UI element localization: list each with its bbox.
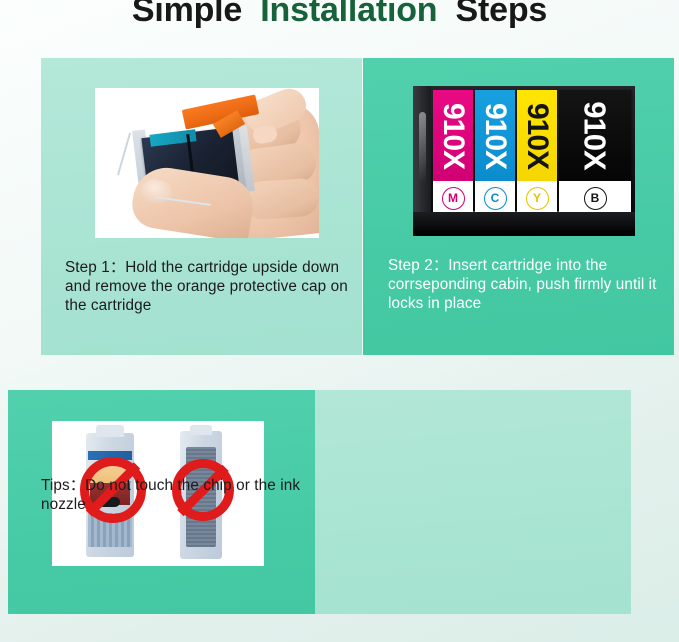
cartridge-magenta: 910X M xyxy=(433,90,473,215)
photo-wisp xyxy=(117,133,131,176)
cartridge-yellow: 910X Y xyxy=(517,90,557,215)
title-space-2 xyxy=(442,0,451,29)
cartridge-row: 910X M 910X C 910X Y xyxy=(433,90,631,215)
cartridge-cyan-letter: C xyxy=(484,187,507,210)
cartridge-black-model: 910X xyxy=(580,101,611,169)
page-title: Simple Installation Steps xyxy=(0,0,679,30)
printer-bay-highlight xyxy=(419,112,426,182)
cartridge-magenta-label: M xyxy=(433,181,473,215)
cartridge-top-nub xyxy=(190,425,212,435)
title-word-steps: Steps xyxy=(456,0,548,29)
cartridge-yellow-letter: Y xyxy=(526,187,549,210)
step-1-panel: Step 1：Hold the cartridge upside down an… xyxy=(41,58,362,355)
cartridge-cyan-model: 910X xyxy=(480,102,510,168)
step-1-caption: Step 1：Hold the cartridge upside down an… xyxy=(65,258,355,315)
cartridge-cyan: 910X C xyxy=(475,90,515,215)
step-2-photo: 910X M 910X C 910X Y xyxy=(413,86,635,236)
cartridge-top-nub xyxy=(96,425,124,437)
title-space-1 xyxy=(247,0,256,29)
cartridge-black-label: B xyxy=(559,181,631,215)
step-2-panel: 910X M 910X C 910X Y xyxy=(363,58,674,355)
tips-text-side: Tips：Do not touch the chip or the ink no… xyxy=(315,390,631,614)
cartridge-cyan-label: C xyxy=(475,181,515,215)
cartridge-black: 910X B xyxy=(559,90,631,215)
step-1-photo xyxy=(95,88,319,238)
step-2-caption: Step 2：Insert cartridge into the corrsep… xyxy=(388,256,663,313)
cartridge-yellow-body: 910X xyxy=(517,90,557,181)
cartridge-magenta-model: 910X xyxy=(438,102,468,168)
cartridge-yellow-label: Y xyxy=(517,181,557,215)
cartridge-black-body: 910X xyxy=(559,90,631,181)
title-word-installation: Installation xyxy=(260,0,437,29)
title-word-simple: Simple xyxy=(132,0,242,29)
cartridge-magenta-letter: M xyxy=(442,187,465,210)
cartridge-cyan-body: 910X xyxy=(475,90,515,181)
printer-bay-floor xyxy=(413,212,635,236)
tips-panel: Tips：Do not touch the chip or the ink no… xyxy=(8,390,631,614)
cartridge-yellow-model: 910X xyxy=(522,102,552,168)
cartridge-black-letter: B xyxy=(584,187,607,210)
cartridge-magenta-body: 910X xyxy=(433,90,473,181)
tips-caption: Tips：Do not touch the chip or the ink no… xyxy=(41,476,311,514)
